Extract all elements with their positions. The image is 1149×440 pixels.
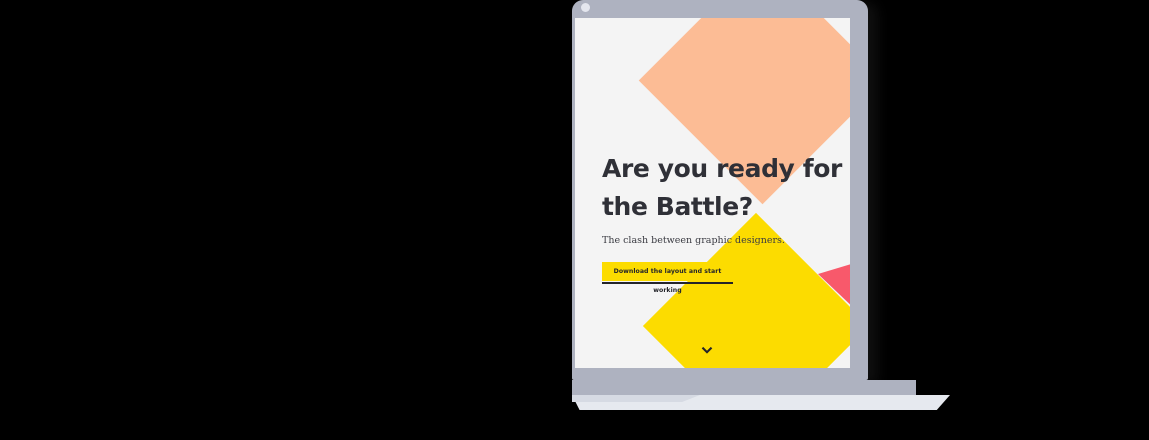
download-layout-button[interactable]: Download the layout and start working — [602, 262, 733, 281]
laptop-base-shading — [572, 395, 700, 402]
webcam-icon — [581, 3, 590, 12]
laptop-screen: Are you ready for the Battle? The clash … — [575, 18, 850, 368]
laptop-lid: Are you ready for the Battle? The clash … — [572, 0, 868, 380]
cta-container: Download the layout and start working — [602, 262, 733, 281]
hero-content: Are you ready for the Battle? The clash … — [602, 150, 850, 281]
scene-canvas: Are you ready for the Battle? The clash … — [0, 0, 1149, 440]
page-title: Are you ready for the Battle? — [602, 150, 847, 226]
webpage-hero-section: Are you ready for the Battle? The clash … — [575, 18, 850, 368]
laptop-hinge-bar — [572, 380, 916, 395]
chevron-down-icon[interactable] — [700, 343, 714, 357]
page-subtitle: The clash between graphic designers. — [602, 234, 850, 247]
cta-underline — [602, 282, 733, 284]
laptop-mockup: Are you ready for the Battle? The clash … — [572, 0, 950, 410]
